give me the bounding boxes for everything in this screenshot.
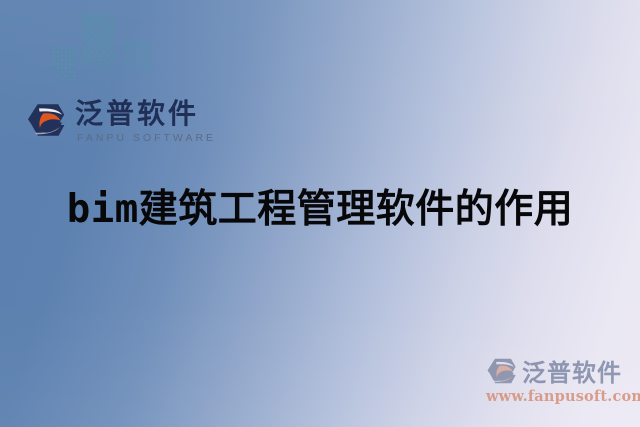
watermark-logo-row: 泛普软件 [486,357,632,388]
brand-name-en: FANPU SOFTWARE [77,133,216,144]
brand-name-cn: 泛普软件 [75,100,216,128]
fanpu-hexagon-logo-icon [486,357,517,388]
pixel-skyline-icon [52,8,154,100]
fanpu-hexagon-logo-icon [26,102,66,142]
headline-text: bim建筑工程管理软件的作用 [0,188,640,233]
brand-wordmark: 泛普软件 FANPU SOFTWARE [75,100,216,144]
brand-logo: 泛普软件 FANPU SOFTWARE [26,100,216,144]
banner-image: 泛普软件 FANPU SOFTWARE bim建筑工程管理软件的作用 泛普软件 … [0,0,640,427]
watermark: 泛普软件 www.fanpusoft.com [486,357,632,419]
watermark-url: www.fanpusoft.com [486,390,632,405]
watermark-name-cn: 泛普软件 [522,361,622,385]
